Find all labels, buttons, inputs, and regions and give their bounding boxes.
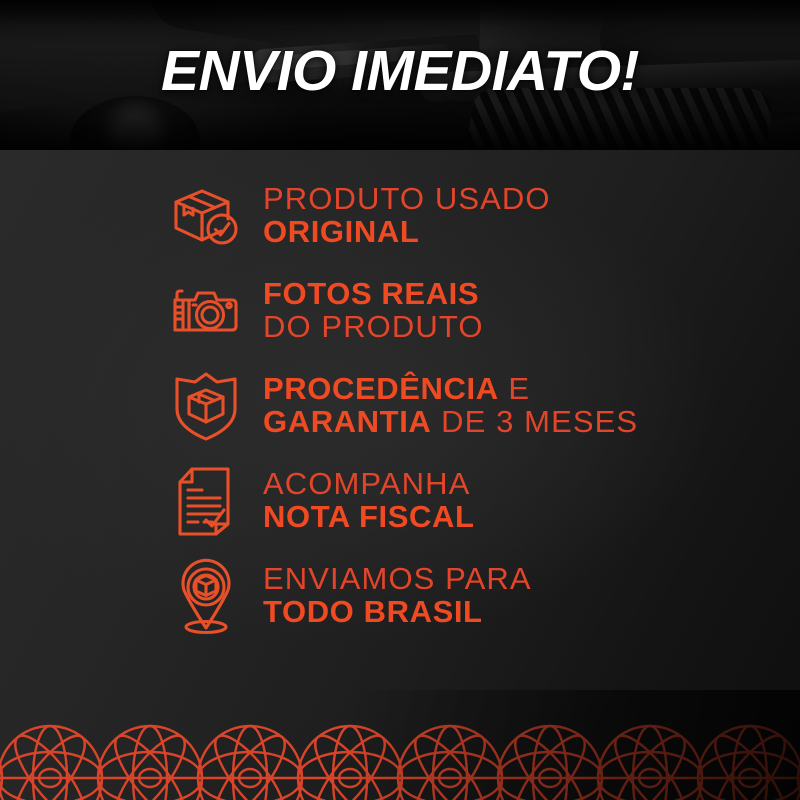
feature-line-2: ORIGINAL	[263, 216, 551, 249]
feature-line-1: ENVIAMOS PARA	[263, 563, 532, 596]
feature-item-envio-brasil: ENVIAMOS PARA TODO BRASIL	[0, 548, 800, 643]
feature-item-garantia: PROCEDÊNCIA E GARANTIA DE 3 MESES	[0, 358, 800, 453]
feature-line-1: ACOMPANHA	[263, 468, 475, 501]
feature-item-nota-fiscal: ACOMPANHA NOTA FISCAL	[0, 453, 800, 548]
feature-line-1: FOTOS REAIS	[263, 278, 484, 311]
feature-text: ENVIAMOS PARA TODO BRASIL	[263, 563, 532, 629]
feature-line-2: NOTA FISCAL	[263, 501, 475, 534]
feature-line-2: TODO BRASIL	[263, 596, 532, 629]
shield-box-icon	[163, 369, 249, 443]
header-hero: ENVIO IMEDIATO!	[0, 0, 800, 150]
feature-text: PROCEDÊNCIA E GARANTIA DE 3 MESES	[263, 373, 638, 439]
feature-item-fotos-reais: FOTOS REAIS DO PRODUTO	[0, 263, 800, 358]
box-check-icon	[163, 183, 249, 249]
camera-icon	[163, 280, 249, 342]
feature-line-1: PRODUTO USADO	[263, 183, 551, 216]
feature-item-produto-original: PRODUTO USADO ORIGINAL	[0, 168, 800, 263]
feature-list: PRODUTO USADO ORIGINAL	[0, 168, 800, 643]
page-title: ENVIO IMEDIATO!	[0, 40, 800, 102]
feature-text: ACOMPANHA NOTA FISCAL	[263, 468, 475, 534]
promo-banner: ENVIO IMEDIATO! PRODUTO USADO	[0, 0, 800, 800]
feature-text: FOTOS REAIS DO PRODUTO	[263, 278, 484, 344]
footer-pattern	[0, 690, 800, 800]
feature-line-1: PROCEDÊNCIA E	[263, 373, 638, 406]
feature-line-2: DO PRODUTO	[263, 311, 484, 344]
feature-text: PRODUTO USADO ORIGINAL	[263, 183, 551, 249]
feature-line-2: GARANTIA DE 3 MESES	[263, 406, 638, 439]
invoice-check-icon	[163, 464, 249, 538]
map-pin-box-icon	[163, 556, 249, 636]
